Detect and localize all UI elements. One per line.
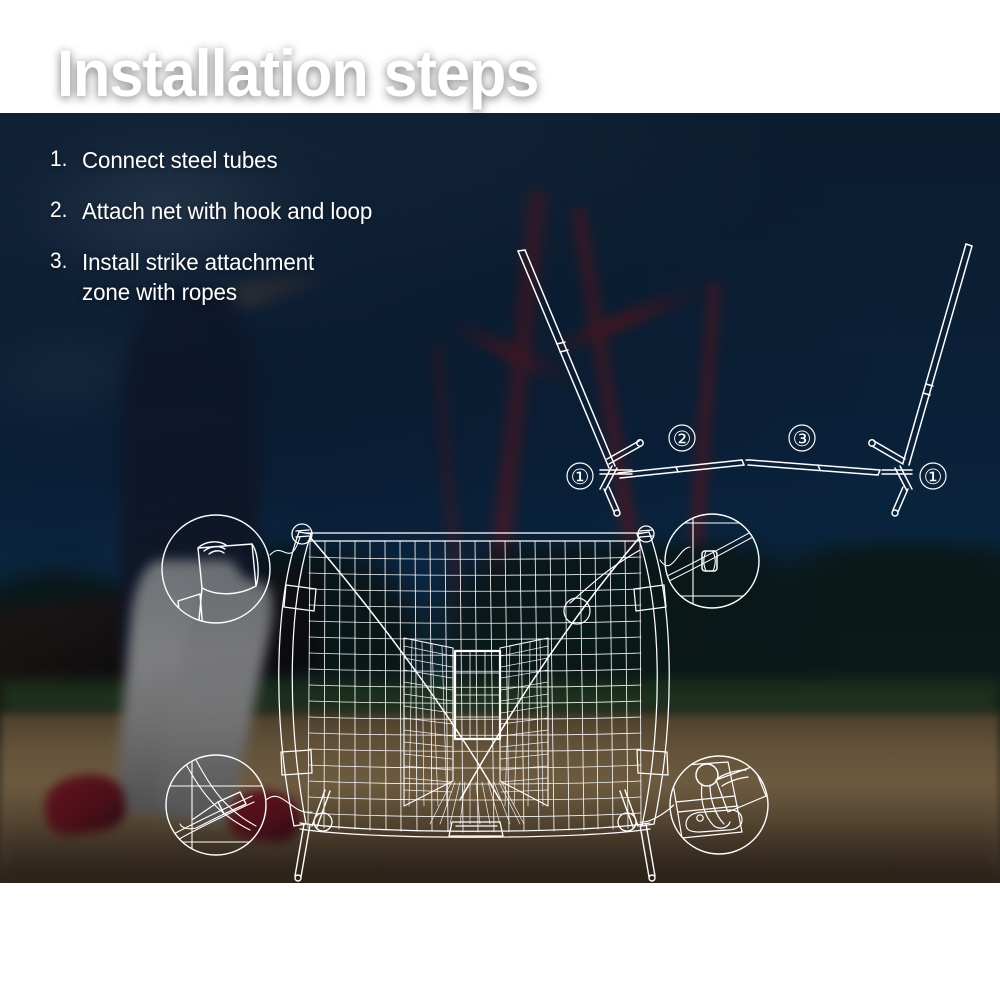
step-number: 2. [50,197,80,223]
step-text: Install strike attachment zone with rope… [82,248,314,308]
steps-list: 1. Connect steel tubes 2. Attach net wit… [50,146,387,328]
step-number: 3. [50,248,80,274]
step-text: Attach net with hook and loop [82,197,372,227]
list-item: 2. Attach net with hook and loop [50,197,387,227]
instruction-graphic: Installation steps 1. Connect steel tube… [0,0,1000,1000]
step-text: Connect steel tubes [82,146,278,176]
list-item: 3. Install strike attachment zone with r… [50,248,387,308]
step-number: 1. [50,146,80,172]
list-item: 1. Connect steel tubes [50,146,387,176]
page-title: Installation steps [57,40,538,106]
